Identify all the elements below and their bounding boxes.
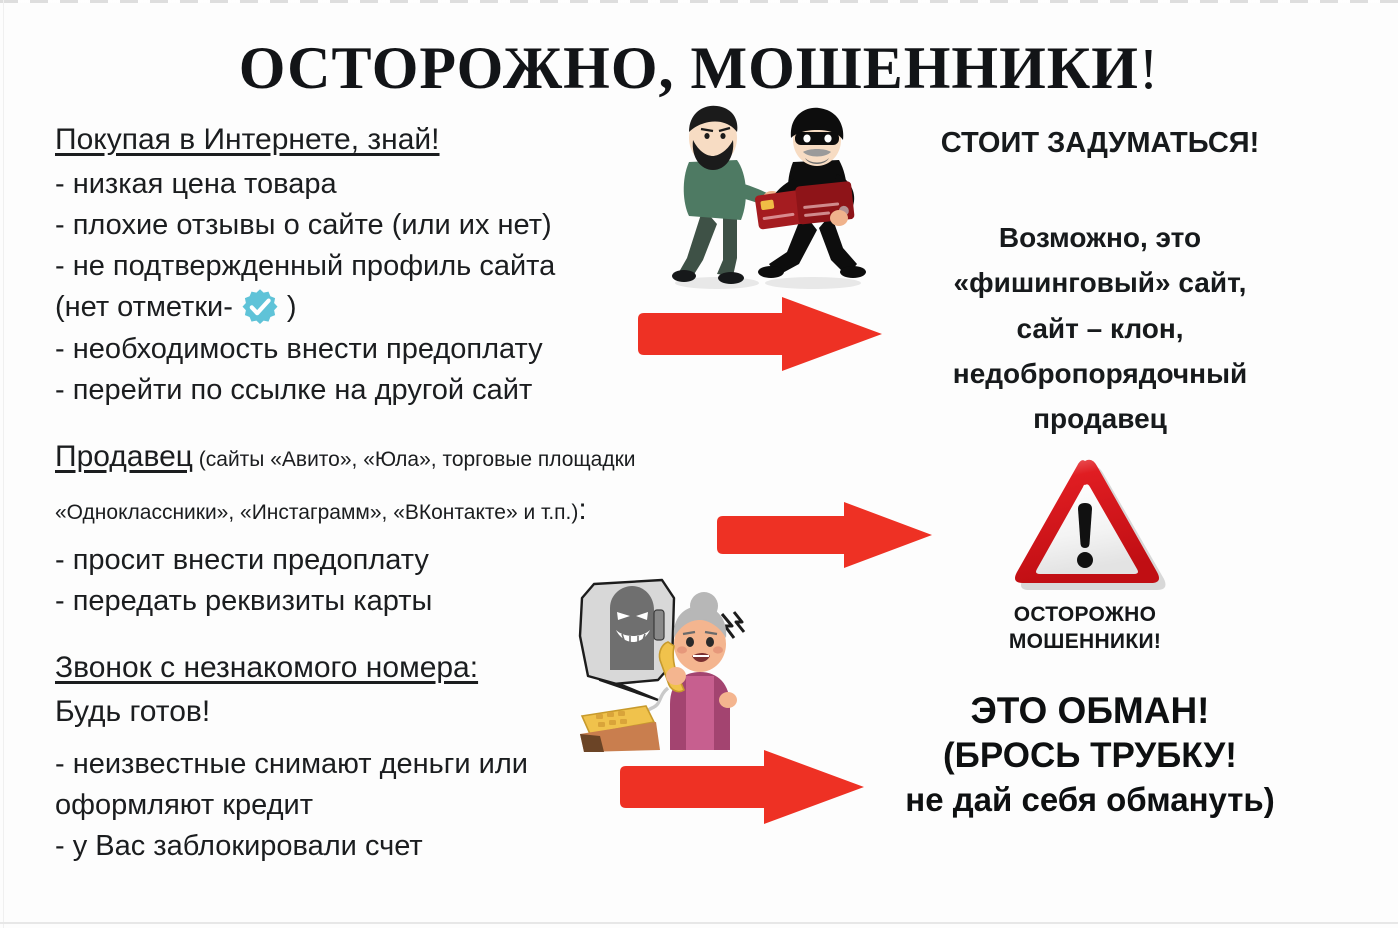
warning-sign-caption: ОСТОРОЖНО МОШЕННИКИ!: [985, 602, 1185, 656]
poster-title-main: ОСТОРОЖНО, МОШЕННИКИ: [239, 35, 1139, 101]
spacer: [55, 528, 695, 540]
right-body-line: Возможно, это: [900, 215, 1300, 260]
verified-mark-prefix: (нет отметки-: [55, 287, 233, 328]
poster-page: ОСТОРОЖНО, МОШЕННИКИ! Покупая в Интернет…: [0, 0, 1398, 928]
final-warning-block: ЭТО ОБМАН! (БРОСЬ ТРУБКУ! не дай себя об…: [840, 688, 1340, 822]
right-heading-think-twice: СТОИТ ЗАДУМАТЬСЯ!: [890, 127, 1310, 160]
list-item: - плохие отзывы о сайте (или их нет): [55, 205, 695, 246]
section-heading-seller-note-2-row: «Одноклассники», «Инстаграмм», «ВКонтакт…: [55, 492, 695, 528]
scan-edge-bottom: [0, 922, 1398, 924]
poster-title-exclamation: !: [1139, 36, 1159, 101]
warning-triangle-icon: [1004, 582, 1166, 599]
scan-edge-left: [3, 0, 4, 928]
section-heading-online-shopping: Покупая в Интернете, знай!: [55, 120, 695, 160]
final-warning-line-1: ЭТО ОБМАН!: [840, 688, 1340, 733]
list-item: - перейти по ссылке на другой сайт: [55, 370, 695, 411]
right-body-line: сайт – клон,: [900, 306, 1300, 351]
red-arrow-right-icon: [614, 748, 870, 831]
warning-sign-caption-line-2: МОШЕННИКИ!: [985, 629, 1185, 656]
list-item: - низкая цена товара: [55, 164, 695, 205]
phone-scam-elderly-woman-illustration: [562, 572, 757, 762]
verified-mark-suffix: ): [287, 287, 297, 328]
verified-mark-note: (нет отметки- ): [55, 287, 695, 328]
red-arrow-right-icon: [712, 500, 938, 575]
right-body-line: недобропорядочный: [900, 351, 1300, 396]
scan-edge-top: [0, 0, 1398, 3]
warning-sign-caption-line-1: ОСТОРОЖНО: [985, 602, 1185, 629]
section-heading-seller: Продавец (сайты «Авито», «Юла», торговые…: [55, 437, 695, 476]
list-item: - необходимость внести предоплату: [55, 329, 695, 370]
thief-stealing-card-illustration: [645, 100, 895, 300]
warning-sign-block: ОСТОРОЖНО МОШЕННИКИ!: [985, 455, 1185, 656]
verified-check-badge-icon: [240, 288, 280, 328]
right-body-phishing-warning: Возможно, это «фишинговый» сайт, сайт – …: [900, 215, 1300, 442]
right-body-line: «фишинговый» сайт,: [900, 260, 1300, 305]
section-heading-seller-note-2: «Одноклассники», «Инстаграмм», «ВКонтакт…: [55, 501, 578, 524]
right-body-line: продавец: [900, 396, 1300, 441]
list-item: - у Вас заблокировали счет: [55, 826, 695, 867]
section-heading-seller-note-1: (сайты «Авито», «Юла», торговые площадки: [199, 448, 636, 471]
poster-title: ОСТОРОЖНО, МОШЕННИКИ!: [0, 34, 1398, 103]
list-item: - не подтвержденный профиль сайта: [55, 246, 695, 287]
section-heading-seller-colon: :: [578, 493, 586, 526]
red-arrow-right-icon: [632, 295, 888, 378]
list-item: оформляют кредит: [55, 785, 695, 826]
final-warning-line-2: (БРОСЬ ТРУБКУ!: [840, 733, 1340, 779]
section-heading-seller-word: Продавец: [55, 440, 193, 473]
spacer: [55, 411, 695, 437]
final-warning-line-3: не дай себя обмануть): [840, 779, 1340, 822]
